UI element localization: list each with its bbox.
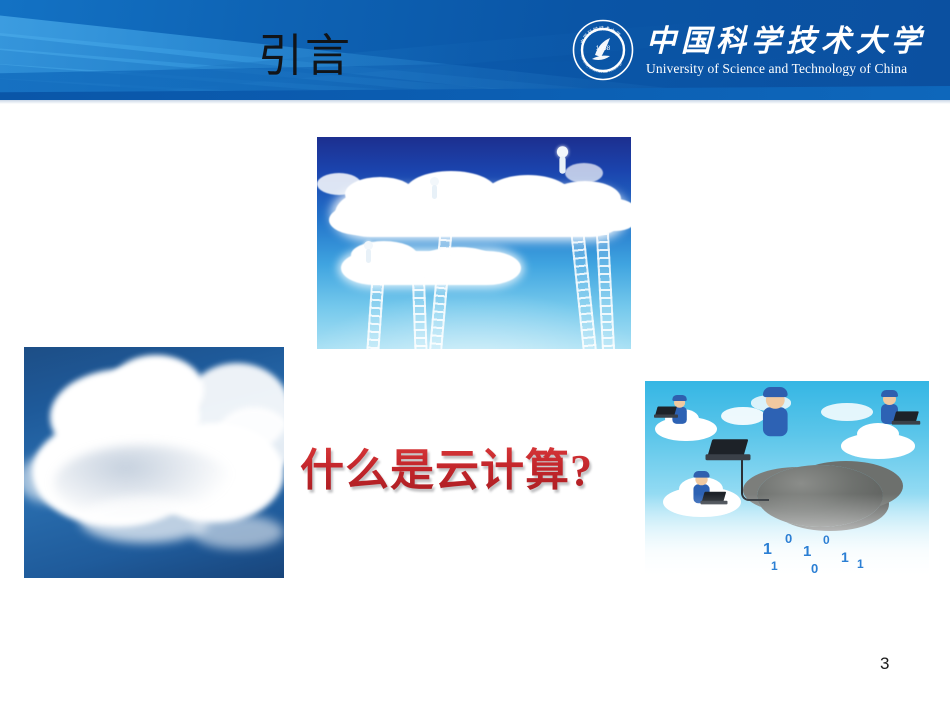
cloud-shape — [80, 497, 210, 543]
laptop-icon — [892, 411, 921, 425]
binary-digit: 0 — [823, 533, 830, 547]
page-title: 引言 — [258, 30, 352, 82]
header-separator-line — [0, 100, 950, 104]
cloud-shape — [841, 433, 915, 459]
laptop-icon — [706, 439, 751, 462]
binary-digit: 1 — [763, 541, 772, 559]
cloud-shape — [565, 163, 603, 183]
binary-digit: 1 — [771, 559, 778, 573]
ustc-name-cn: 中国科学技术大学 — [646, 25, 926, 59]
cloud-shape — [329, 205, 389, 235]
svg-text:中国科学技术大学: 中国科学技术大学 — [579, 25, 622, 45]
cloud-shape — [821, 403, 873, 421]
svg-text:1958: 1958 — [596, 45, 611, 52]
cloud-shape — [192, 515, 284, 549]
climbing-figure-icon — [556, 146, 570, 174]
image-cumulus-cloud-photo — [24, 347, 284, 578]
laptop-icon — [654, 407, 678, 419]
slide-number: 3 — [880, 653, 910, 675]
climbing-figure-icon — [363, 241, 374, 263]
ustc-logo-text: 中国科学技术大学 University of Science and Techn… — [646, 25, 926, 76]
binary-digit: 1 — [803, 543, 811, 560]
ustc-seal-icon: 1958 中国科学技术大学 University of Science and … — [572, 19, 634, 81]
binary-digit: 0 — [811, 561, 818, 576]
question-text: 什么是云计算? — [300, 443, 593, 499]
image-cloud-computing-illustration: 1 0 1 0 1 1 0 1 — [645, 381, 929, 576]
ustc-logo: 1958 中国科学技术大学 University of Science and … — [572, 16, 926, 84]
image-clouds-with-ladders — [317, 137, 631, 349]
user-figure-icon — [757, 391, 795, 440]
binary-digit: 1 — [841, 549, 849, 565]
cloud-shape — [593, 199, 631, 231]
binary-digit: 1 — [857, 557, 864, 571]
slide-header-band: 1958 中国科学技术大学 University of Science and … — [0, 0, 950, 100]
climbing-figure-icon — [429, 177, 440, 199]
binary-digit: 0 — [785, 531, 792, 546]
ustc-name-en: University of Science and Technology of … — [646, 61, 907, 76]
